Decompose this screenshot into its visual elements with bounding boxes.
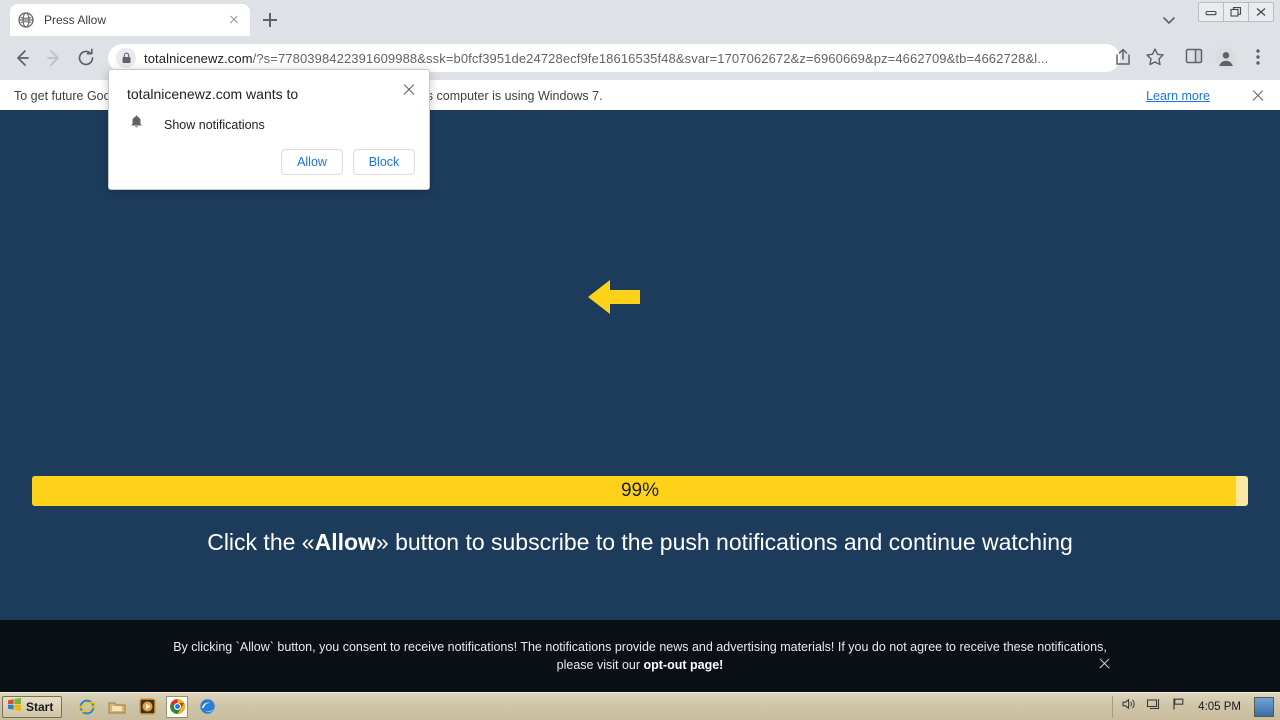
page-content: 99% Click the «Allow» button to subscrib… xyxy=(0,110,1280,692)
permission-label: Show notifications xyxy=(164,118,265,132)
headline-suffix: » button to subscribe to the push notifi… xyxy=(376,529,1073,555)
bookmark-star-icon[interactable] xyxy=(1144,46,1168,70)
permission-dialog-close-icon[interactable] xyxy=(401,82,417,98)
account-avatar-icon[interactable] xyxy=(1214,46,1238,70)
consent-banner: By clicking `Allow` button, you consent … xyxy=(0,620,1280,692)
show-desktop-icon[interactable] xyxy=(1254,697,1274,717)
forward-button[interactable] xyxy=(42,46,66,70)
network-icon[interactable] xyxy=(1146,697,1162,716)
quick-launch-bar xyxy=(76,696,218,718)
infobar-learn-more-link[interactable]: Learn more xyxy=(1146,89,1210,103)
url-path: /?s=7780398422391609988&ssk=b0fcf3951de2… xyxy=(253,51,1049,66)
consent-banner-close-icon[interactable] xyxy=(1098,657,1112,671)
tab-strip: Press Allow xyxy=(0,0,1280,36)
tab-close-icon[interactable] xyxy=(226,12,242,28)
allow-button[interactable]: Allow xyxy=(281,149,343,175)
lock-icon[interactable] xyxy=(116,48,136,68)
start-button[interactable]: Start xyxy=(2,696,62,718)
browser-window: Press Allow xyxy=(0,0,1280,692)
url-domain: totalnicenewz.com xyxy=(144,51,253,66)
tab-title: Press Allow xyxy=(44,13,226,27)
chevron-down-icon[interactable] xyxy=(1158,9,1180,31)
action-center-flag-icon[interactable] xyxy=(1171,697,1185,716)
system-tray: 4:05 PM xyxy=(1112,696,1280,718)
bell-icon xyxy=(129,114,144,135)
globe-icon xyxy=(18,12,34,28)
windows-logo-icon xyxy=(7,697,22,717)
consent-text-body: By clicking `Allow` button, you consent … xyxy=(173,640,1107,672)
restore-icon[interactable] xyxy=(1223,2,1249,22)
consent-banner-text: By clicking `Allow` button, you consent … xyxy=(160,638,1120,674)
start-button-label: Start xyxy=(26,700,53,714)
notification-permission-dialog: totalnicenewz.com wants to Show notifica… xyxy=(108,69,430,190)
address-bar-url: totalnicenewz.com/?s=7780398422391609988… xyxy=(144,51,1110,66)
page-headline: Click the «Allow» button to subscribe to… xyxy=(0,529,1280,556)
window-controls xyxy=(1199,2,1274,22)
volume-icon[interactable] xyxy=(1121,697,1137,716)
close-icon[interactable] xyxy=(1248,2,1274,22)
permission-dialog-title: totalnicenewz.com wants to xyxy=(127,86,298,102)
windows-taskbar: Start xyxy=(0,692,1280,720)
taskbar-clock[interactable]: 4:05 PM xyxy=(1198,701,1241,713)
google-chrome-icon[interactable] xyxy=(166,696,188,718)
headline-emphasis: Allow xyxy=(315,529,376,555)
new-tab-button[interactable] xyxy=(258,8,282,32)
progress-bar-label: 99% xyxy=(32,476,1248,506)
infobar-close-icon[interactable] xyxy=(1250,88,1266,104)
opt-out-link[interactable]: opt-out page! xyxy=(644,658,724,672)
browser-tab[interactable]: Press Allow xyxy=(10,4,250,36)
arrow-left-icon xyxy=(588,278,640,316)
three-dot-menu-icon[interactable] xyxy=(1248,46,1272,70)
side-panel-icon[interactable] xyxy=(1184,46,1208,70)
reload-button[interactable] xyxy=(74,46,98,70)
block-button[interactable]: Block xyxy=(353,149,415,175)
media-player-icon[interactable] xyxy=(136,696,158,718)
headline-prefix: Click the « xyxy=(207,529,314,555)
progress-bar: 99% xyxy=(32,476,1248,506)
address-bar[interactable]: totalnicenewz.com/?s=7780398422391609988… xyxy=(108,44,1120,72)
share-icon[interactable] xyxy=(1112,46,1136,70)
internet-explorer-icon[interactable] xyxy=(76,696,98,718)
permission-row: Show notifications xyxy=(129,114,265,135)
permission-dialog-buttons: Allow Block xyxy=(281,149,415,175)
back-button[interactable] xyxy=(10,46,34,70)
microsoft-edge-icon[interactable] xyxy=(196,696,218,718)
folder-explorer-icon[interactable] xyxy=(106,696,128,718)
minimize-icon[interactable] xyxy=(1198,2,1224,22)
